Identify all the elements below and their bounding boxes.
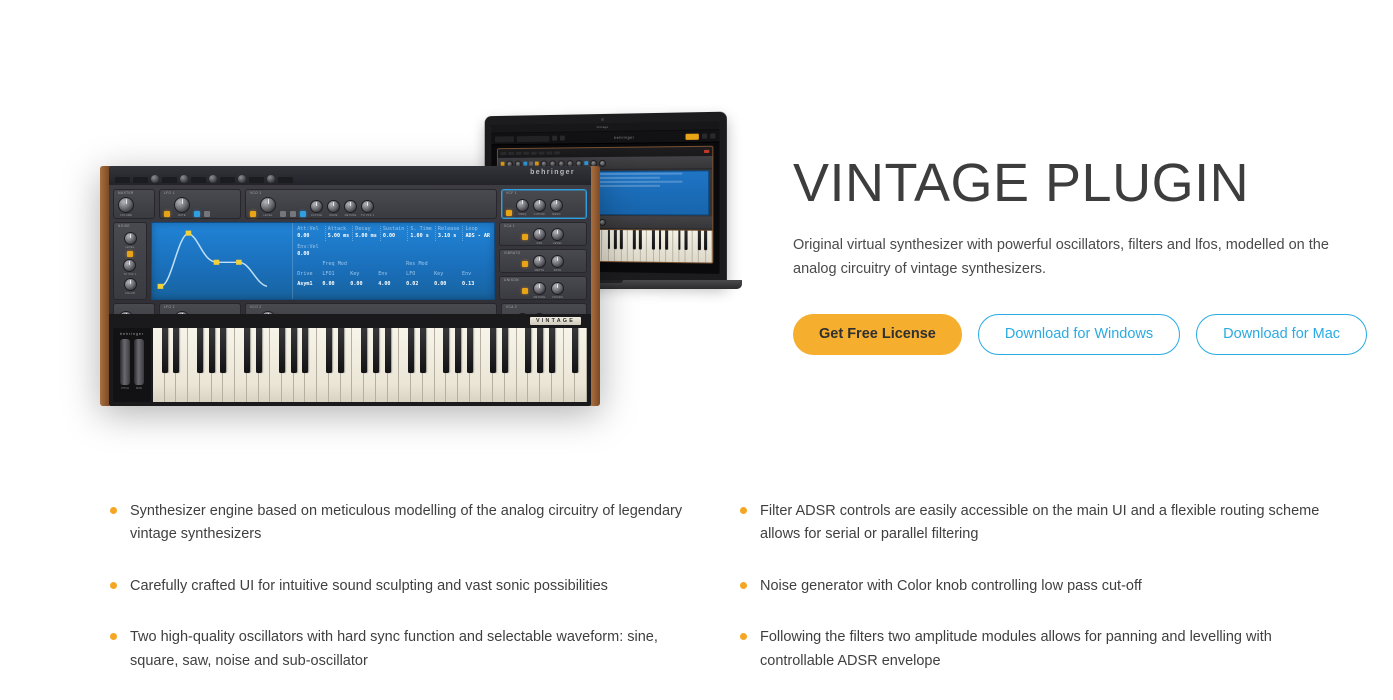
synth-right-modules: VCA 1 PAN LEVEL VIBRATO: [499, 222, 587, 300]
daw-toolbar-button: [552, 136, 557, 141]
led-indicator[interactable]: [164, 211, 170, 217]
black-key[interactable]: [256, 328, 262, 373]
lcd-value: 3.10 s: [438, 233, 463, 240]
black-key[interactable]: [502, 328, 508, 373]
black-key[interactable]: [537, 328, 543, 373]
led-indicator[interactable]: [290, 211, 296, 217]
product-image: Vintage behringer: [100, 108, 760, 408]
knob-label: LEVEL: [263, 214, 272, 217]
module-label: VCF 1: [506, 191, 517, 195]
led-indicator[interactable]: [506, 210, 512, 216]
daw-window-title: Vintage: [596, 125, 608, 129]
feature-text: Noise generator with Color knob controll…: [760, 578, 1142, 594]
mod-wheel[interactable]: [134, 339, 144, 385]
black-key[interactable]: [455, 328, 461, 373]
knob-color[interactable]: [124, 278, 137, 291]
feature-item: Filter ADSR controls are easily accessib…: [740, 500, 1340, 547]
black-key[interactable]: [620, 230, 623, 249]
mod-wheel-label: MOD: [134, 387, 144, 390]
knob-reso[interactable]: [550, 199, 563, 212]
black-key[interactable]: [685, 231, 688, 250]
knob-label: WAVE: [329, 214, 337, 217]
black-key[interactable]: [549, 328, 555, 373]
led-indicator[interactable]: [522, 261, 528, 267]
module-noise[interactable]: NOISE LEVEL TO VCF 1 COLOR: [113, 222, 147, 300]
hero-section: Vintage behringer: [0, 0, 1393, 470]
lcd-section-label: Res Mod: [406, 261, 490, 268]
black-key[interactable]: [373, 328, 379, 373]
module-unison[interactable]: UNISON DETUNE VOICES: [499, 276, 587, 300]
module-lfo-1[interactable]: LFO 1 RATE: [159, 189, 241, 219]
knob-noise-level[interactable]: [124, 232, 137, 245]
module-label: VCO 1: [250, 191, 262, 195]
hero-subtitle: Original virtual synthesizer with powerf…: [793, 234, 1371, 282]
black-key[interactable]: [385, 328, 391, 373]
piano-keys[interactable]: [153, 328, 587, 402]
knob-label: TO VCF 1: [123, 273, 136, 276]
black-key[interactable]: [572, 328, 578, 373]
led-indicator[interactable]: [250, 211, 256, 217]
knob-label: LEVEL: [125, 246, 134, 249]
hero-text-block: VINTAGE PLUGIN Original virtual synthesi…: [793, 155, 1373, 355]
daw-toolbar-button: [702, 134, 707, 139]
black-key[interactable]: [665, 230, 668, 249]
knob-level[interactable]: [260, 197, 276, 213]
lcd-value: 5.00 ms: [355, 233, 380, 240]
module-vcf-1[interactable]: VCF 1 FREQ CUTOFF RESO: [501, 189, 587, 219]
brand-logo-small: behringer: [120, 331, 144, 336]
page-title: VINTAGE PLUGIN: [793, 155, 1373, 212]
knob-label: OCTAVE: [311, 214, 322, 217]
features-column-right: Filter ADSR controls are easily accessib…: [0, 500, 1393, 700]
black-key[interactable]: [614, 230, 617, 249]
module-vibrato[interactable]: VIBRATO DEPTH RATE: [499, 249, 587, 273]
feature-text: Filter ADSR controls are easily accessib…: [760, 503, 1319, 542]
lcd-value: 0.00: [434, 281, 462, 288]
synth-wood-panel-left: [100, 166, 109, 406]
bullet-icon: [740, 582, 747, 589]
module-label: LFO 1: [164, 191, 175, 195]
lcd-value: 0.00: [350, 281, 378, 288]
knob-label: LEVEL: [553, 242, 562, 245]
module-label: UNISON: [504, 278, 519, 282]
synth-module-row-middle: NOISE LEVEL TO VCF 1 COLOR: [113, 222, 587, 300]
lcd-key: Decay: [355, 226, 380, 233]
black-key[interactable]: [704, 231, 707, 250]
module-vco-1[interactable]: VCO 1 LEVEL OCTAVE: [245, 189, 497, 219]
module-label: VCA 1: [504, 224, 515, 228]
black-key[interactable]: [162, 328, 168, 373]
black-key[interactable]: [678, 231, 681, 250]
knob-vca-level[interactable]: [551, 228, 564, 241]
led-indicator[interactable]: [280, 211, 286, 217]
lcd-value: 5.00 ms: [328, 233, 353, 240]
black-key[interactable]: [525, 328, 531, 373]
keybed-main: behringer PITCH MOD: [113, 328, 587, 402]
lcd-key: Key: [434, 271, 462, 278]
led-indicator[interactable]: [127, 251, 133, 257]
knob-label: FREQ: [518, 213, 526, 216]
knob-label: TO VCF 1: [361, 214, 374, 217]
lcd-parameter-readout: Att:Vel 0.00 Attack 5.00 ms: [292, 223, 494, 299]
feature-item: Noise generator with Color knob controll…: [740, 575, 1340, 598]
lcd-value[interactable]: ADS - AR: [465, 233, 490, 240]
lcd-value: 4.00: [378, 281, 406, 288]
lcd-value[interactable]: Asym1: [297, 281, 322, 288]
black-key[interactable]: [291, 328, 297, 373]
black-key[interactable]: [220, 328, 226, 373]
lcd-key: Env:Vel: [297, 244, 490, 251]
knob-label: DETUNE: [534, 296, 546, 299]
knob-cutoff[interactable]: [533, 199, 546, 212]
lcd-key: Att:Vel: [297, 226, 325, 233]
led-indicator[interactable]: [204, 211, 210, 217]
black-key[interactable]: [659, 230, 662, 249]
knob-vibrato-rate[interactable]: [551, 255, 564, 268]
pitch-wheel-label: PITCH: [120, 387, 130, 390]
bullet-icon: [740, 633, 747, 640]
synth-body: behringer MASTER VOLUME: [100, 166, 600, 406]
knob-detune[interactable]: [344, 200, 357, 213]
performance-wheels: behringer PITCH MOD: [113, 328, 151, 402]
black-key[interactable]: [408, 328, 414, 373]
model-badge: VINTAGE: [530, 317, 581, 325]
led-indicator[interactable]: [194, 211, 200, 217]
module-master[interactable]: MASTER VOLUME: [113, 189, 155, 219]
brand-logo: behringer: [530, 169, 575, 176]
knob-label: RATE: [554, 269, 562, 272]
lcd-row-mod-headers: Drive LFO1 Key Env LFO Key Env: [297, 271, 490, 278]
daw-preset-badge: [686, 133, 699, 139]
module-vca-1[interactable]: VCA 1 PAN LEVEL: [499, 222, 587, 246]
black-key[interactable]: [633, 230, 636, 249]
knob-octave[interactable]: [310, 200, 323, 213]
feature-text: Following the filters two amplitude modu…: [760, 629, 1272, 668]
lcd-key: Key: [350, 271, 378, 278]
lcd-key: Drive: [297, 271, 322, 278]
knob-label: VOICES: [552, 296, 563, 299]
lcd-key: Release: [438, 226, 463, 233]
knob-label: VOLUME: [120, 214, 132, 217]
lcd-key: LFO: [406, 271, 434, 278]
black-key[interactable]: [197, 328, 203, 373]
lcd-key: LFO1: [322, 271, 350, 278]
download-mac-button[interactable]: Download for Mac: [1196, 314, 1367, 355]
knob-label: PAN: [537, 242, 543, 245]
black-key[interactable]: [652, 230, 655, 249]
feature-item: Following the filters two amplitude modu…: [740, 626, 1340, 673]
lcd-value: 0.02: [406, 281, 434, 288]
led-indicator[interactable]: [522, 288, 528, 294]
lcd-mod-section-labels: Freq Mod Res Mod: [297, 261, 490, 268]
lcd-value: 0.00: [297, 233, 325, 240]
daw-toolbar-button: [560, 136, 565, 141]
bullet-icon: [740, 507, 747, 514]
lcd-key: Env: [462, 271, 490, 278]
knob-to-vcf-1[interactable]: [361, 200, 374, 213]
synth-module-row-top: MASTER VOLUME LFO 1: [113, 189, 587, 219]
knob-label: CUTOFF: [534, 213, 546, 216]
page-root: Vintage behringer: [0, 0, 1393, 700]
black-key[interactable]: [467, 328, 473, 373]
black-key[interactable]: [490, 328, 496, 373]
lcd-value: 0.13: [462, 281, 490, 288]
lcd-key: S. Time: [410, 226, 435, 233]
led-indicator[interactable]: [300, 211, 306, 217]
knob-unison-detune[interactable]: [533, 282, 546, 295]
module-label: LFO 2: [164, 305, 175, 309]
synth-wood-panel-right: [591, 166, 600, 406]
black-key[interactable]: [209, 328, 215, 373]
black-key[interactable]: [639, 230, 642, 249]
black-key[interactable]: [302, 328, 308, 373]
black-key[interactable]: [338, 328, 344, 373]
black-key[interactable]: [244, 328, 250, 373]
black-key[interactable]: [698, 231, 701, 250]
knob-rate[interactable]: [174, 197, 190, 213]
module-label: MASTER: [118, 191, 134, 195]
adsr-envelope-graph[interactable]: [152, 223, 292, 299]
module-label: VIBRATO: [504, 251, 521, 255]
black-key[interactable]: [361, 328, 367, 373]
knob-label: COLOR: [125, 292, 135, 295]
lcd-key: Sustain: [383, 226, 408, 233]
lcd-key: Loop: [465, 226, 490, 233]
synthesizer-hardware: behringer MASTER VOLUME: [100, 166, 600, 406]
lcd-key: Env: [378, 271, 406, 278]
black-key[interactable]: [608, 230, 611, 249]
hero-cta-group: Get Free License Download for Windows Do…: [793, 314, 1373, 355]
module-label: VCO 2: [250, 305, 262, 309]
lcd-key: Attack: [328, 226, 353, 233]
download-windows-button[interactable]: Download for Windows: [978, 314, 1180, 355]
synth-control-panel: MASTER VOLUME LFO 1: [109, 185, 591, 314]
laptop-camera-icon: [601, 118, 604, 121]
daw-toolbar-chip: [495, 136, 514, 142]
lcd-row-mod-values: Asym1 0.00 0.00 4.00 0.02 0.00 0.13: [297, 281, 490, 288]
keybed-brand-strip: VINTAGE: [113, 318, 587, 328]
daw-brand-label: behringer: [568, 134, 683, 140]
daw-toolbar-button: [710, 133, 715, 138]
knob-unison-voices[interactable]: [551, 282, 564, 295]
black-key[interactable]: [326, 328, 332, 373]
lcd-display[interactable]: Att:Vel 0.00 Attack 5.00 ms: [151, 222, 495, 300]
synth-top-strip: behringer: [109, 166, 591, 185]
knob-label: RESO: [552, 213, 560, 216]
knob-label: DETUNE: [345, 214, 357, 217]
black-key[interactable]: [443, 328, 449, 373]
lcd-value: 0.00: [322, 281, 350, 288]
lcd-value: 0.00: [297, 251, 490, 258]
knob-vibrato-depth[interactable]: [533, 255, 546, 268]
daw-toolbar: behringer: [491, 130, 719, 145]
black-key[interactable]: [420, 328, 426, 373]
knob-freq[interactable]: [516, 199, 529, 212]
lcd-row-env-vel: Env:Vel 0.00: [297, 244, 490, 259]
black-key[interactable]: [279, 328, 285, 373]
lcd-section-label: Freq Mod: [322, 261, 406, 268]
module-label: VCA 2: [506, 305, 517, 309]
knob-noise-to-vcf[interactable]: [123, 259, 136, 272]
lcd-value: 0.00: [383, 233, 408, 240]
lcd-row-envelope: Att:Vel 0.00 Attack 5.00 ms: [297, 226, 490, 241]
daw-toolbar-chip: [517, 135, 550, 141]
synth-keybed: VINTAGE behringer PITCH: [109, 314, 591, 406]
knob-label: RATE: [178, 214, 186, 217]
black-key[interactable]: [173, 328, 179, 373]
knob-label: DEPTH: [535, 269, 545, 272]
module-label: NOISE: [118, 224, 130, 228]
knob-wave[interactable]: [327, 200, 340, 213]
get-free-license-button[interactable]: Get Free License: [793, 314, 962, 355]
lcd-value: 1.00 s: [410, 233, 435, 240]
knob-pan[interactable]: [533, 228, 546, 241]
knob-volume[interactable]: [118, 197, 134, 213]
pitch-wheel[interactable]: [120, 339, 130, 385]
led-indicator[interactable]: [522, 234, 528, 240]
